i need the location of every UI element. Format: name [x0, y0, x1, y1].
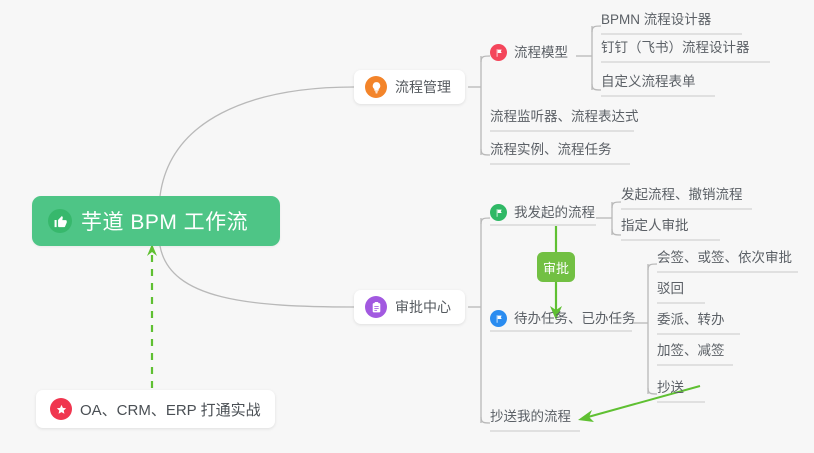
leaf-label-reject: 驳回	[657, 281, 684, 297]
approval-flow-badge-label: 审批	[543, 258, 569, 277]
leaf-label-my-started-process: 我发起的流程	[514, 205, 595, 221]
connector-ac-corner-top	[481, 218, 490, 224]
leaf-add-remove-sign[interactable]: 加签、减签	[657, 343, 725, 362]
connector-model-corner-top	[592, 26, 601, 32]
leaf-label-assignee-approval: 指定人审批	[621, 218, 689, 234]
mindmap-canvas: 芋道 BPM 工作流 流程管理 审批中心	[0, 0, 814, 453]
bottom-note-label: OA、CRM、ERP 打通实战	[80, 399, 261, 420]
leaf-label-launch-cancel-process: 发起流程、撤销流程	[621, 187, 743, 203]
connector-root-to-process-management	[160, 87, 354, 196]
leaf-process-listener[interactable]: 流程监听器、流程表达式	[490, 109, 639, 128]
branch-node-approval-center[interactable]: 审批中心	[354, 290, 465, 324]
leaf-launch-cancel-process[interactable]: 发起流程、撤销流程	[621, 187, 743, 206]
leaf-process-model[interactable]: 流程模型	[490, 44, 568, 64]
connector-pm-corner-bot	[481, 149, 490, 155]
leaf-cc-to-me[interactable]: 抄送我的流程	[490, 409, 571, 428]
leaf-reject[interactable]: 驳回	[657, 281, 684, 300]
connector-mine-corner-top	[612, 202, 621, 208]
connector-todo-corner-top	[648, 264, 657, 270]
leaf-label-todo-done-tasks: 待办任务、已办任务	[514, 311, 636, 327]
connector-ac-corner-bot	[481, 417, 490, 423]
root-label: 芋道 BPM 工作流	[81, 206, 248, 236]
leaf-countersign[interactable]: 会签、或签、依次审批	[657, 250, 792, 269]
approval-flow-badge: 审批	[537, 252, 575, 282]
leaf-bpmn-designer[interactable]: BPMN 流程设计器	[601, 12, 711, 31]
leaf-label-dingtalk-designer: 钉钉（飞书）流程设计器	[601, 40, 750, 56]
leaf-label-custom-form: 自定义流程表单	[601, 74, 696, 90]
connector-mine-corner-bot	[612, 229, 621, 235]
arrow-note-to-root	[147, 244, 157, 388]
flag-green-icon	[490, 204, 507, 221]
leaf-label-cc-to-me: 抄送我的流程	[490, 409, 571, 425]
flag-red-icon	[490, 44, 507, 61]
root-node[interactable]: 芋道 BPM 工作流	[32, 196, 280, 246]
branch-node-process-management[interactable]: 流程管理	[354, 70, 465, 104]
leaf-label-process-instance: 流程实例、流程任务	[490, 142, 612, 158]
leaf-dingtalk-designer[interactable]: 钉钉（飞书）流程设计器	[601, 40, 750, 59]
leaf-label-process-model: 流程模型	[514, 45, 568, 61]
branch-label-process-management: 流程管理	[395, 77, 451, 97]
connector-todo-corner-bot	[648, 388, 657, 394]
clipboard-icon	[365, 296, 387, 318]
leaf-label-process-listener: 流程监听器、流程表达式	[490, 109, 639, 125]
leaf-label-cc: 抄送	[657, 380, 684, 396]
bottom-note-node[interactable]: OA、CRM、ERP 打通实战	[36, 390, 275, 428]
leaf-label-add-remove-sign: 加签、减签	[657, 343, 725, 359]
thumbs-up-icon	[48, 209, 72, 233]
flag-blue-icon	[490, 310, 507, 327]
leaf-label-delegate-transfer: 委派、转办	[657, 312, 725, 328]
leaf-delegate-transfer[interactable]: 委派、转办	[657, 312, 725, 331]
leaf-label-countersign: 会签、或签、依次审批	[657, 250, 792, 266]
leaf-custom-form[interactable]: 自定义流程表单	[601, 74, 696, 93]
leaf-cc[interactable]: 抄送	[657, 380, 684, 399]
connector-root-to-approval-center	[160, 246, 354, 307]
star-icon	[50, 398, 72, 420]
connector-pm-corner-top	[481, 56, 490, 62]
branch-label-approval-center: 审批中心	[395, 297, 451, 317]
leaf-my-started-process[interactable]: 我发起的流程	[490, 204, 595, 224]
leaf-todo-done-tasks[interactable]: 待办任务、已办任务	[490, 310, 636, 330]
leaf-assignee-approval[interactable]: 指定人审批	[621, 218, 689, 237]
leaf-label-bpmn-designer: BPMN 流程设计器	[601, 12, 711, 28]
leaf-process-instance[interactable]: 流程实例、流程任务	[490, 142, 612, 161]
lightbulb-icon	[365, 76, 387, 98]
connector-model-corner-bot	[592, 84, 601, 90]
